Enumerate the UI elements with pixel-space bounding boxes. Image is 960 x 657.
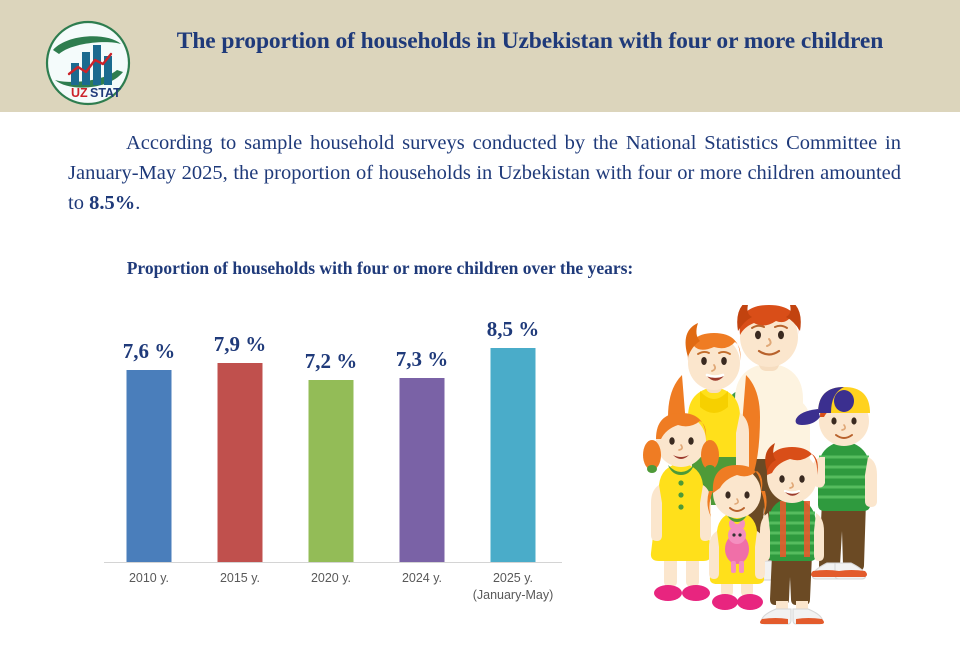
- bar-chart: 7,6 % 7,9 % 7,2 % 7,3 % 8,5 % 2010 y. 20…: [104, 330, 574, 620]
- bar-value-label: 8,5 %: [487, 317, 540, 342]
- bar-value-label: 7,9 %: [214, 332, 267, 357]
- chart-tick-labels: 2010 y. 2015 y. 2020 y. 2024 y. 2025 y. …: [104, 570, 574, 620]
- uzstat-logo: UZ STAT: [45, 20, 131, 106]
- bar-slot-2010: 7,6 %: [104, 330, 194, 562]
- bar-slot-2015: 7,9 %: [195, 330, 285, 562]
- intro-paragraph: According to sample household surveys co…: [68, 128, 901, 218]
- bar-slot-2020: 7,2 %: [286, 330, 376, 562]
- bar-2020[interactable]: [309, 380, 354, 562]
- tick-label-2025: 2025 y. (January-May): [458, 570, 568, 604]
- bar-2015[interactable]: [218, 363, 263, 562]
- tick-label-main: 2010 y.: [129, 571, 169, 585]
- tick-label-main: 2015 y.: [220, 571, 260, 585]
- bar-2010[interactable]: [127, 370, 172, 562]
- intro-text-before: According to sample household surveys co…: [68, 132, 901, 214]
- bar-value-label: 7,3 %: [396, 347, 449, 372]
- header-band: UZ STAT The proportion of households in …: [0, 0, 960, 112]
- chart-axis-line: [104, 562, 562, 563]
- bar-value-label: 7,6 %: [123, 339, 176, 364]
- tick-label-main: 2024 y.: [402, 571, 442, 585]
- tick-label-main: 2020 y.: [311, 571, 351, 585]
- bar-2025[interactable]: [491, 348, 536, 562]
- logo-text-stat: STAT: [90, 86, 121, 100]
- page-title: The proportion of households in Uzbekist…: [150, 26, 910, 57]
- bar-2024[interactable]: [400, 378, 445, 562]
- tick-label-main: 2025 y.: [493, 571, 533, 585]
- bar-value-label: 7,2 %: [305, 349, 358, 374]
- intro-highlight-value: 8.5%: [89, 192, 135, 214]
- tick-label-sub: (January-May): [458, 587, 568, 604]
- family-with-four-children-illustration: [626, 305, 948, 635]
- bar-slot-2025: 8,5 %: [468, 330, 558, 562]
- logo-text-uz: UZ: [71, 86, 88, 100]
- chart-plot-area: 7,6 % 7,9 % 7,2 % 7,3 % 8,5 %: [104, 330, 574, 562]
- bar-slot-2024: 7,3 %: [377, 330, 467, 562]
- intro-text-after: .: [135, 192, 140, 214]
- chart-title: Proportion of households with four or mo…: [115, 256, 645, 280]
